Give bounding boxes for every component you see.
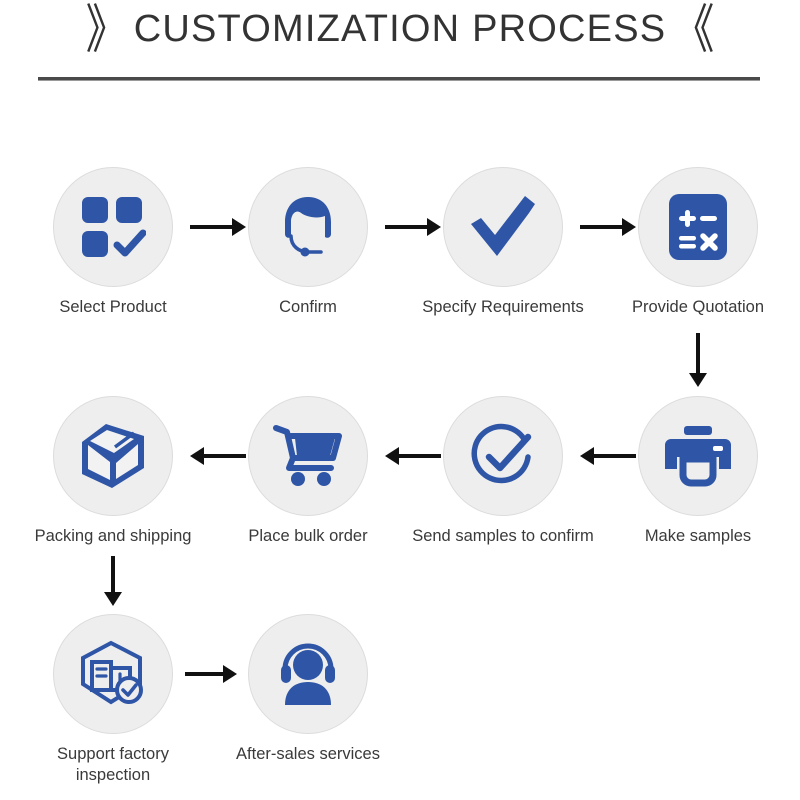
- step-label: After-sales services: [233, 744, 383, 765]
- support-person-icon: [273, 643, 343, 705]
- page-header: 》 CUSTOMIZATION PROCESS 《: [0, 0, 800, 100]
- arrow-5-to-6: [580, 447, 636, 465]
- factory-inspection-icon: [78, 640, 148, 708]
- step-label: Make samples: [623, 526, 773, 547]
- step-icon-circle: [638, 167, 758, 287]
- step-icon-circle: [248, 396, 368, 516]
- step-node-select-product[interactable]: Select Product: [38, 167, 188, 318]
- step-node-send-samples[interactable]: Send samples to confirm: [428, 396, 578, 547]
- step-icon-circle: [248, 614, 368, 734]
- step-label: Support factory inspection: [38, 744, 188, 785]
- step-label: Packing and shipping: [13, 526, 213, 547]
- arrow-4-to-5: [688, 333, 708, 387]
- step-label: Select Product: [38, 297, 188, 318]
- step-node-factory-inspection[interactable]: Support factory inspection: [38, 614, 188, 785]
- right-chevron-icon: 《: [672, 3, 714, 56]
- step-node-confirm[interactable]: Confirm: [233, 167, 383, 318]
- header-divider: [38, 77, 760, 81]
- step-node-after-sales[interactable]: After-sales services: [233, 614, 383, 765]
- step-label: Provide Quotation: [598, 297, 798, 318]
- page-title: CUSTOMIZATION PROCESS: [134, 8, 667, 51]
- arrow-8-to-9: [103, 556, 123, 606]
- headset-agent-icon: [273, 192, 343, 262]
- step-icon-circle: [443, 167, 563, 287]
- step-icon-circle: [53, 396, 173, 516]
- printer-icon: [663, 425, 733, 487]
- step-node-provide-quotation[interactable]: Provide Quotation: [623, 167, 773, 318]
- step-icon-circle: [638, 396, 758, 516]
- arrow-6-to-7: [385, 447, 441, 465]
- grid-check-icon: [80, 195, 146, 259]
- arrow-7-to-8: [190, 447, 246, 465]
- step-icon-circle: [53, 614, 173, 734]
- step-label: Specify Requirements: [403, 297, 603, 318]
- step-node-make-samples[interactable]: Make samples: [623, 396, 773, 547]
- step-label: Confirm: [233, 297, 383, 318]
- calculator-icon: [667, 192, 729, 262]
- step-icon-circle: [248, 167, 368, 287]
- arrow-9-to-10: [185, 665, 237, 683]
- left-chevron-icon: 》: [86, 3, 128, 56]
- step-node-packing-shipping[interactable]: Packing and shipping: [38, 396, 188, 547]
- step-label: Place bulk order: [233, 526, 383, 547]
- circle-check-icon: [468, 421, 538, 491]
- step-label: Send samples to confirm: [403, 526, 603, 547]
- step-icon-circle: [443, 396, 563, 516]
- shopping-cart-icon: [273, 424, 343, 488]
- checkmark-icon: [467, 194, 539, 260]
- step-node-specify-requirements[interactable]: Specify Requirements: [428, 167, 578, 318]
- title-row: 》 CUSTOMIZATION PROCESS 《: [0, 8, 800, 51]
- step-node-place-bulk-order[interactable]: Place bulk order: [233, 396, 383, 547]
- package-box-icon: [78, 422, 148, 490]
- step-icon-circle: [53, 167, 173, 287]
